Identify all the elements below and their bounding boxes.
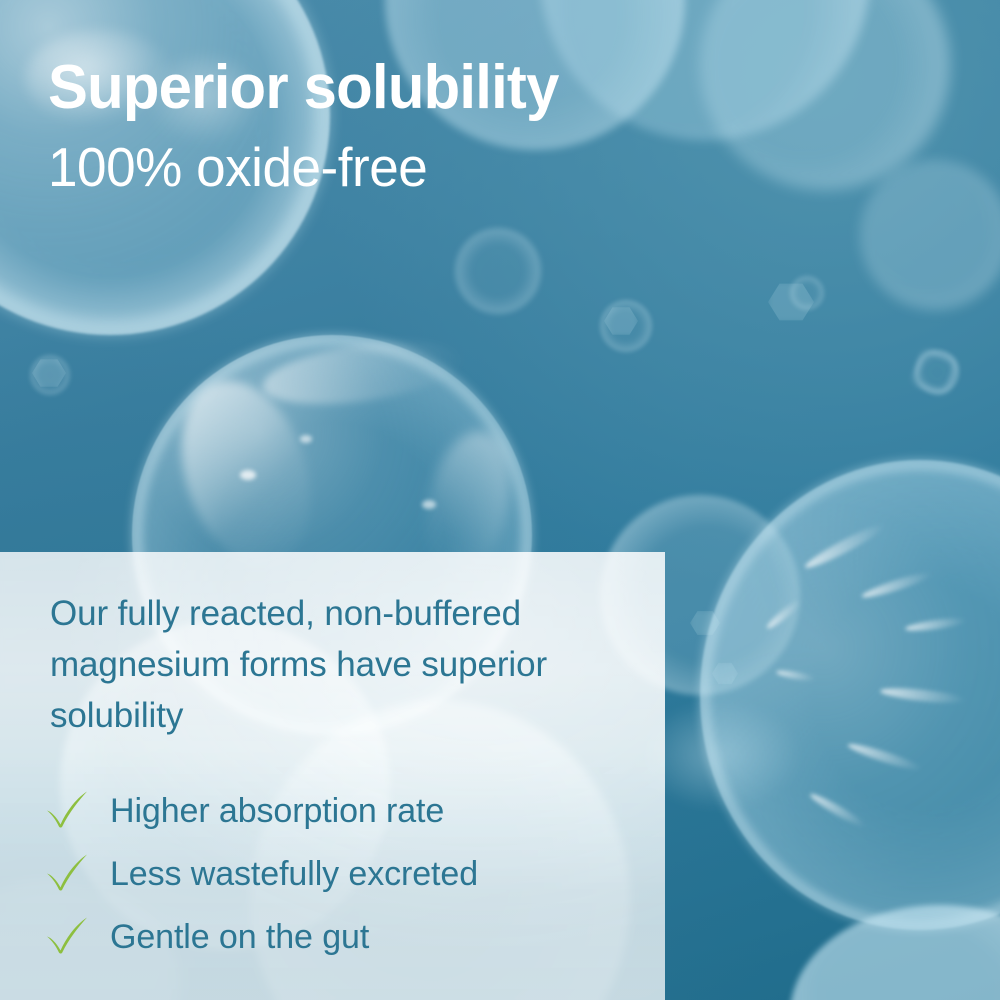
hexagon-bokeh-4 xyxy=(32,358,66,388)
hexagon-bokeh-2 xyxy=(909,346,960,397)
page-title: Superior solubility xyxy=(48,56,781,119)
check-icon xyxy=(44,914,110,956)
bubble-bottom-right xyxy=(790,905,1000,1000)
check-icon xyxy=(44,788,110,830)
promo-graphic: Superior solubility 100% oxide-free Our … xyxy=(0,0,1000,1000)
bubble-center-specular-2 xyxy=(300,435,312,443)
bubble-streak-6 xyxy=(808,791,868,831)
bubble-streak-1 xyxy=(802,520,887,573)
list-item-label: Less wastefully excreted xyxy=(110,851,478,896)
bubble-right-upper xyxy=(860,160,1000,310)
bubble-center-highlight-top xyxy=(259,331,465,414)
hero-heading-group: Superior solubility 100% oxide-free xyxy=(48,56,808,195)
list-item: Less wastefully excreted xyxy=(44,851,644,914)
panel-body-copy: Our fully reacted, non-buffered magnesiu… xyxy=(50,588,630,741)
page-subtitle: 100% oxide-free xyxy=(48,139,781,195)
benefits-list: Higher absorption rate Less wastefully e… xyxy=(44,788,644,977)
bubble-streak-7 xyxy=(765,597,804,631)
list-item: Gentle on the gut xyxy=(44,914,644,977)
bubble-streak-2 xyxy=(860,569,933,601)
bubble-center-specular-1 xyxy=(240,470,256,480)
bubble-center-specular-3 xyxy=(422,500,436,509)
bubble-streak-4 xyxy=(880,686,967,706)
bubble-center-highlight xyxy=(160,364,333,582)
check-icon xyxy=(44,851,110,893)
hexagon-bokeh-5 xyxy=(690,610,720,636)
bubble-streak-3 xyxy=(905,616,968,634)
hexagon-bokeh-6 xyxy=(712,662,738,685)
list-item: Higher absorption rate xyxy=(44,788,644,851)
list-item-label: Higher absorption rate xyxy=(110,788,444,833)
bubble-small-a xyxy=(455,228,541,314)
bubble-streak-8 xyxy=(776,669,817,683)
hexagon-bokeh-1 xyxy=(768,282,814,322)
list-item-label: Gentle on the gut xyxy=(110,914,369,959)
bubble-streak-5 xyxy=(846,740,923,774)
content-panel: Our fully reacted, non-buffered magnesiu… xyxy=(0,552,665,1000)
hexagon-bokeh-3 xyxy=(604,306,638,336)
